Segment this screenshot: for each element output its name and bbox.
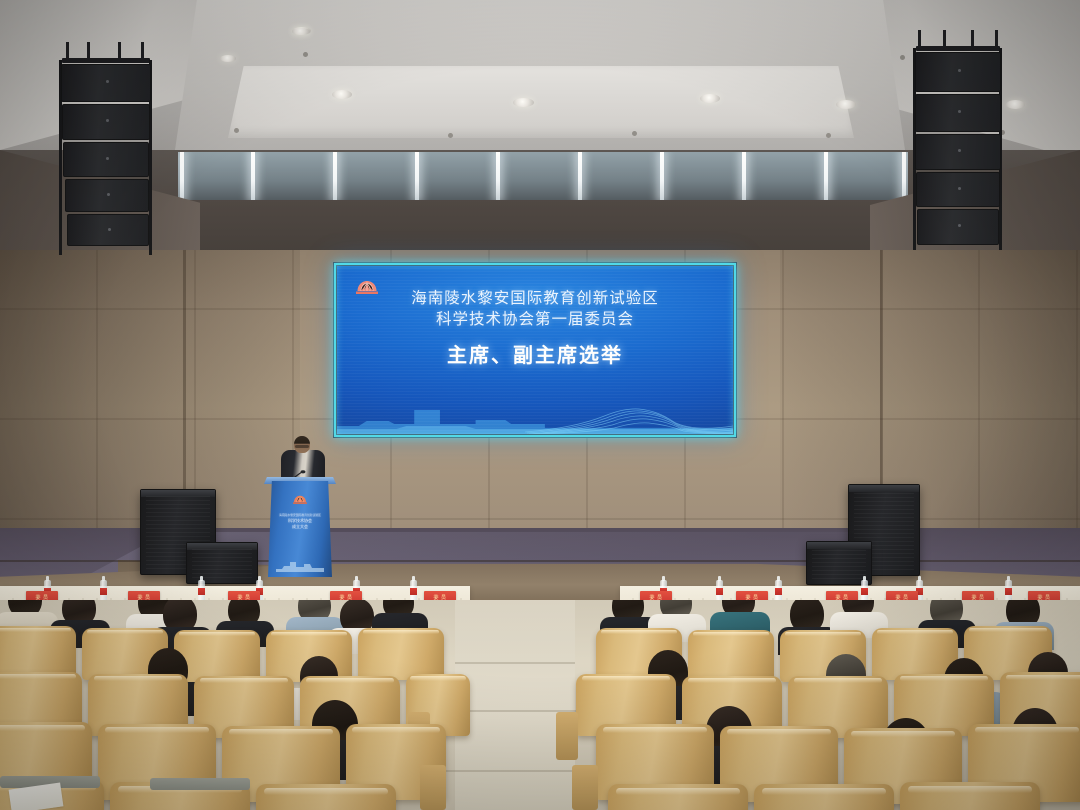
podium: 海南陵水黎安国际教育创新试验区 科学技术协会 成立大会 (268, 481, 332, 577)
downlight-icon (513, 98, 534, 107)
array-module (915, 52, 1001, 92)
light-strip-icon (415, 152, 419, 200)
downlight-icon (332, 90, 352, 99)
sprinkler-icon (448, 133, 453, 138)
sprinkler-icon (303, 52, 308, 57)
light-strip-icon (578, 152, 582, 200)
water-bottle (716, 580, 723, 602)
light-strip-icon (333, 152, 337, 200)
water-bottle (198, 580, 205, 602)
array-module (915, 134, 1001, 170)
podium-line-1: 科学技术协会 (288, 518, 312, 523)
chair-armrest (572, 765, 598, 810)
water-bottle (1005, 580, 1012, 602)
screen-headline: 主席、副主席选举 (337, 339, 733, 368)
led-screen-surface: 海南陵水黎安国际教育创新试验区 科学技术协会第一届委员会 主席、副主席选举 (337, 266, 733, 434)
audience-area (0, 600, 1080, 810)
sprinkler-icon (900, 55, 905, 60)
array-module (62, 104, 150, 140)
chair-armrest (420, 765, 446, 810)
array-module (63, 142, 149, 177)
aisle-step (455, 662, 575, 664)
ceiling-recess (228, 66, 854, 138)
center-aisle (455, 600, 575, 810)
array-module (61, 64, 151, 102)
speaker-rigging (58, 42, 154, 62)
line-array-speaker-right (912, 30, 1004, 252)
downlight-icon (700, 94, 720, 103)
array-module (917, 209, 1000, 245)
auditorium-chair (0, 626, 76, 678)
light-strip-icon (180, 152, 184, 200)
array-module (916, 172, 1001, 207)
downlight-icon (220, 55, 236, 62)
sprinkler-icon (826, 133, 831, 138)
podium-skyline-graphic (276, 558, 324, 572)
light-strip-icon (251, 152, 255, 200)
screen-line-2: 科学技术协会第一届委员会 (337, 309, 733, 330)
screen-line-1: 海南陵水黎安国际教育创新试验区 (337, 288, 733, 309)
line-array-speaker-left (58, 42, 154, 257)
auditorium-chair (754, 784, 894, 810)
auditorium-chair (688, 630, 774, 682)
auditorium-chair (900, 782, 1040, 810)
auditorium-chair (358, 628, 444, 680)
ceiling-light-band (178, 152, 908, 200)
podium-small-line: 海南陵水黎安国际教育创新试验区 (268, 512, 332, 518)
water-bottle (410, 580, 417, 602)
water-bottle (861, 580, 868, 602)
chair-seat-cushion (150, 778, 250, 790)
downlight-icon (836, 100, 856, 109)
light-strip-icon (496, 152, 500, 200)
chair-armrest (556, 712, 578, 760)
water-bottle (100, 580, 107, 602)
speaker-rigging (912, 30, 1004, 50)
screen-text-block: 海南陵水黎安国际教育创新试验区 科学技术协会第一届委员会 主席、副主席选举 (337, 288, 733, 368)
downlight-icon (1006, 100, 1025, 109)
array-module (915, 94, 1001, 132)
podium-text: 海南陵水黎安国际教育创新试验区 科学技术协会 成立大会 (268, 512, 332, 530)
light-strip-icon (824, 152, 828, 200)
light-strip-icon (742, 152, 746, 200)
water-bottle (775, 580, 782, 602)
downlight-icon (292, 28, 310, 35)
auditorium-photo: 海南陵水黎安国际教育创新试验区 科学技术协会第一届委员会 主席、副主席选举 (0, 0, 1080, 810)
sprinkler-icon (632, 131, 637, 136)
floor-subwoofer-left (186, 542, 258, 584)
dome-logo-icon (293, 495, 308, 507)
sprinkler-icon (234, 128, 239, 133)
auditorium-chair (608, 784, 748, 810)
light-strip-icon (660, 152, 664, 200)
led-screen: 海南陵水黎安国际教育创新试验区 科学技术协会第一届委员会 主席、副主席选举 (333, 262, 737, 438)
array-module (65, 179, 149, 212)
auditorium-chair (256, 784, 396, 810)
podium-line-2: 成立大会 (292, 524, 308, 529)
array-module (67, 214, 150, 246)
light-strip-icon (902, 152, 906, 200)
glasses-icon (295, 445, 309, 448)
